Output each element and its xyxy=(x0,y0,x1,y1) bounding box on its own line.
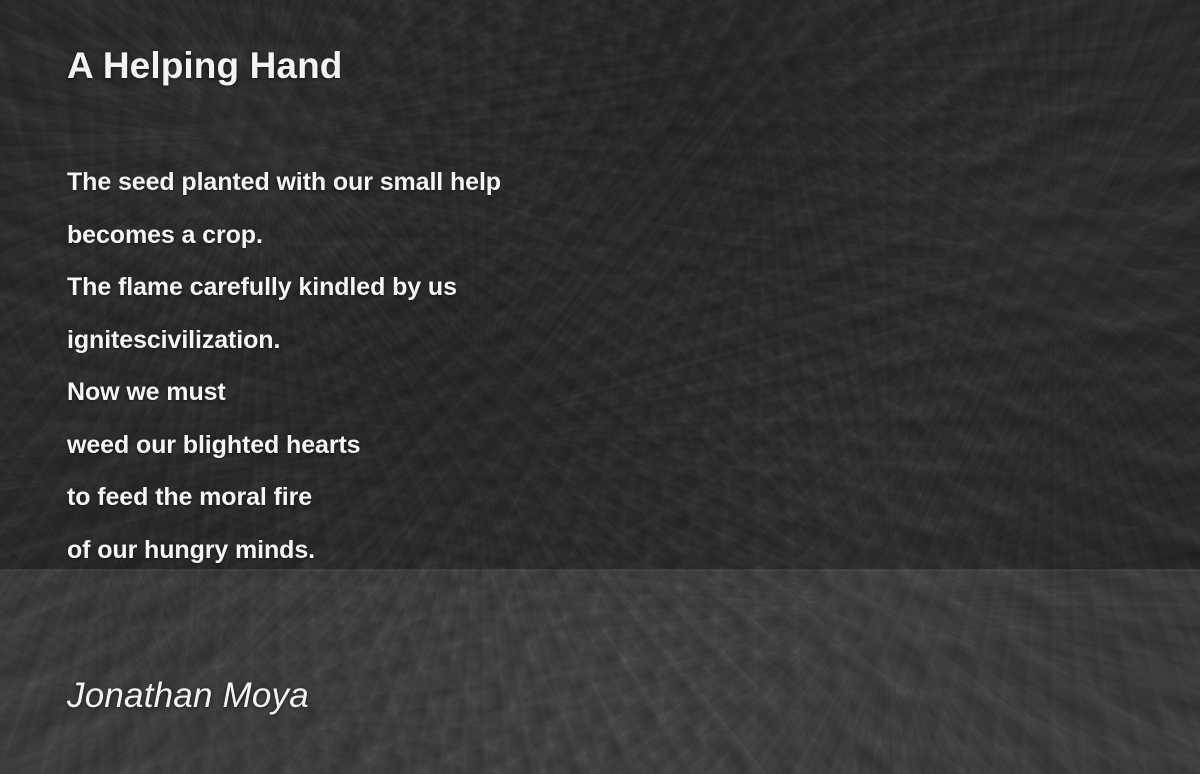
poem-line: Now we must xyxy=(67,366,501,419)
poem-title: A Helping Hand xyxy=(67,45,342,87)
poem-content: A Helping Hand The seed planted with our… xyxy=(0,0,1200,774)
poem-line: of our hungry minds. xyxy=(67,524,501,577)
poem-image-card: A Helping Hand The seed planted with our… xyxy=(0,0,1200,774)
poem-line: weed our blighted hearts xyxy=(67,419,501,472)
poem-line: becomes a crop. xyxy=(67,209,501,262)
poem-line: The seed planted with our small help xyxy=(67,156,501,209)
poem-line: The flame carefully kindled by us xyxy=(67,261,501,314)
poem-line: to feed the moral fire xyxy=(67,471,501,524)
poem-author: Jonathan Moya xyxy=(67,676,309,716)
poem-line: ignitescivilization. xyxy=(67,314,501,367)
poem-body: The seed planted with our small help bec… xyxy=(67,156,501,576)
